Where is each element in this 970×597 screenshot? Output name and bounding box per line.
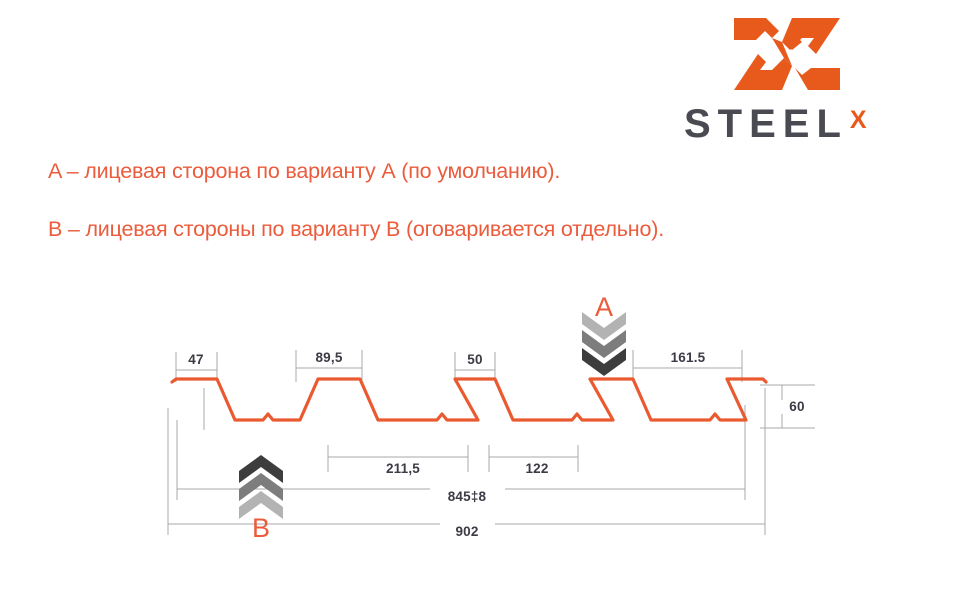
profile-drawing xyxy=(0,0,970,597)
dim-label-902: 902 xyxy=(455,524,478,539)
dim-label-122: 122 xyxy=(525,461,548,476)
marker-b-chevrons xyxy=(239,455,283,519)
dim-label-60: 60 xyxy=(789,399,804,414)
dim-label-47: 47 xyxy=(188,352,203,367)
profile-outline xyxy=(172,379,766,420)
dim-label-211-5: 211,5 xyxy=(386,461,420,476)
marker-a-letter: A xyxy=(595,292,613,323)
dim-label-845: 845‡8 xyxy=(448,489,487,504)
dim-label-50: 50 xyxy=(467,352,482,367)
marker-b-letter: B xyxy=(252,513,270,544)
dim-label-89-5: 89,5 xyxy=(315,350,342,365)
dim-label-161-5: 161.5 xyxy=(671,350,706,365)
